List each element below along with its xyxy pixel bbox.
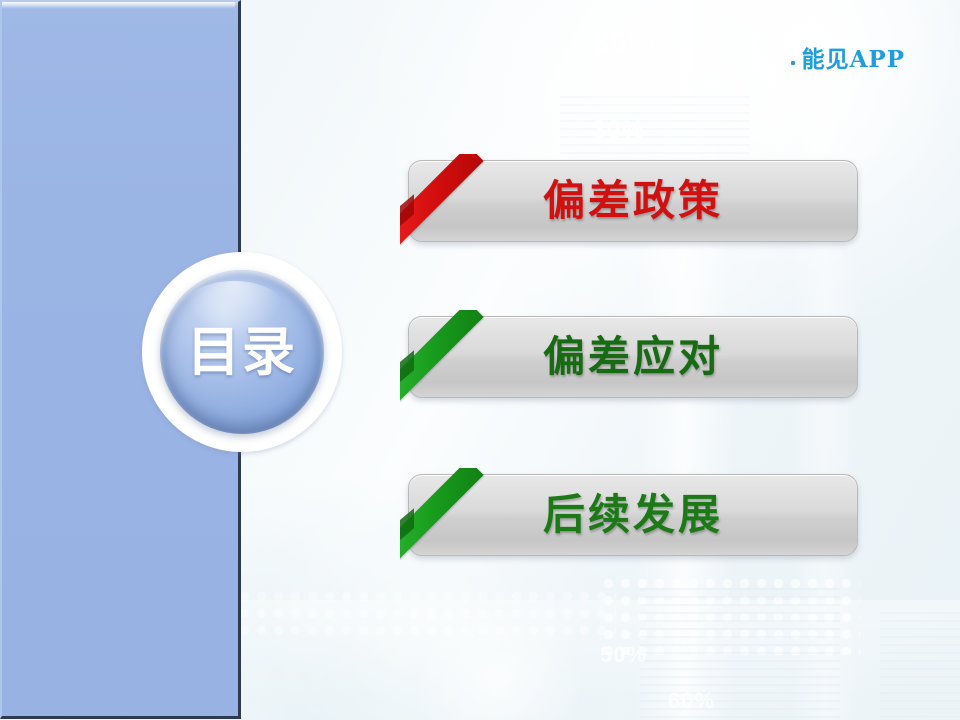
panel-highlight (2, 2, 235, 9)
slide-canvas: 80% 30% 50% 60% 目录 能见APP 偏差政策 偏差应对 (0, 0, 960, 720)
brand-logo: 能见APP (791, 40, 905, 74)
menu-bar[interactable]: 偏差应对 (408, 316, 858, 398)
watermark-label: 30% (592, 116, 645, 145)
toc-label: 目录 (187, 326, 297, 379)
logo-dot-icon (791, 61, 795, 65)
toc-circle: 目录 (142, 252, 342, 452)
menu-item-3[interactable]: 后续发展 (408, 474, 858, 556)
menu-item-label: 偏差政策 (543, 180, 723, 222)
menu-bar[interactable]: 后续发展 (408, 474, 858, 556)
watermark-label: 50% (600, 642, 647, 668)
menu-item-label: 偏差应对 (543, 336, 723, 378)
menu-item-label: 后续发展 (543, 494, 723, 536)
menu-item-1[interactable]: 偏差政策 (408, 160, 858, 242)
logo-text: 能见APP (802, 40, 905, 74)
watermark-label: 80% (594, 27, 655, 60)
menu-item-2[interactable]: 偏差应对 (408, 316, 858, 398)
toc-sphere: 目录 (160, 270, 324, 434)
watermark-label: 60% (668, 688, 715, 714)
menu-bar[interactable]: 偏差政策 (408, 160, 858, 242)
